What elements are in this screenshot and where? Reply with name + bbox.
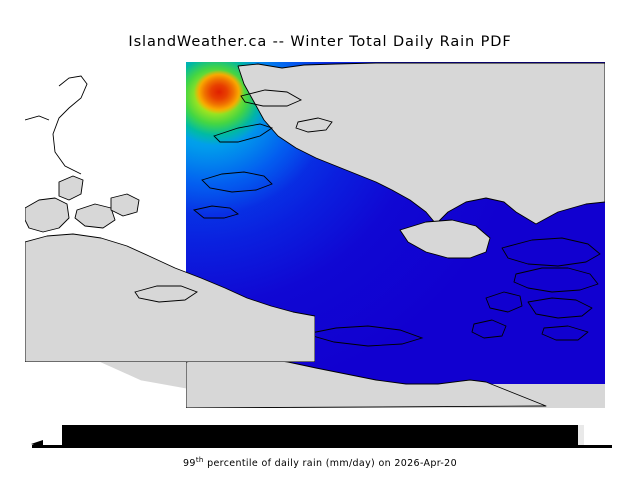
colorbar-tail-cap	[578, 425, 584, 445]
caption-superscript: th	[196, 456, 204, 464]
colorbar[interactable]	[62, 425, 578, 445]
mainland-coastline	[25, 62, 315, 362]
colorbar-axis-line	[32, 445, 612, 448]
colorbar-fill	[62, 425, 578, 445]
page-title: IslandWeather.ca -- Winter Total Daily R…	[0, 34, 640, 50]
caption-suffix: percentile of daily rain (mm/day) on 202…	[204, 458, 457, 469]
caption-prefix: 99	[183, 458, 196, 469]
colorbar-caption: 99th percentile of daily rain (mm/day) o…	[0, 458, 640, 469]
map-panel[interactable]	[25, 62, 605, 408]
